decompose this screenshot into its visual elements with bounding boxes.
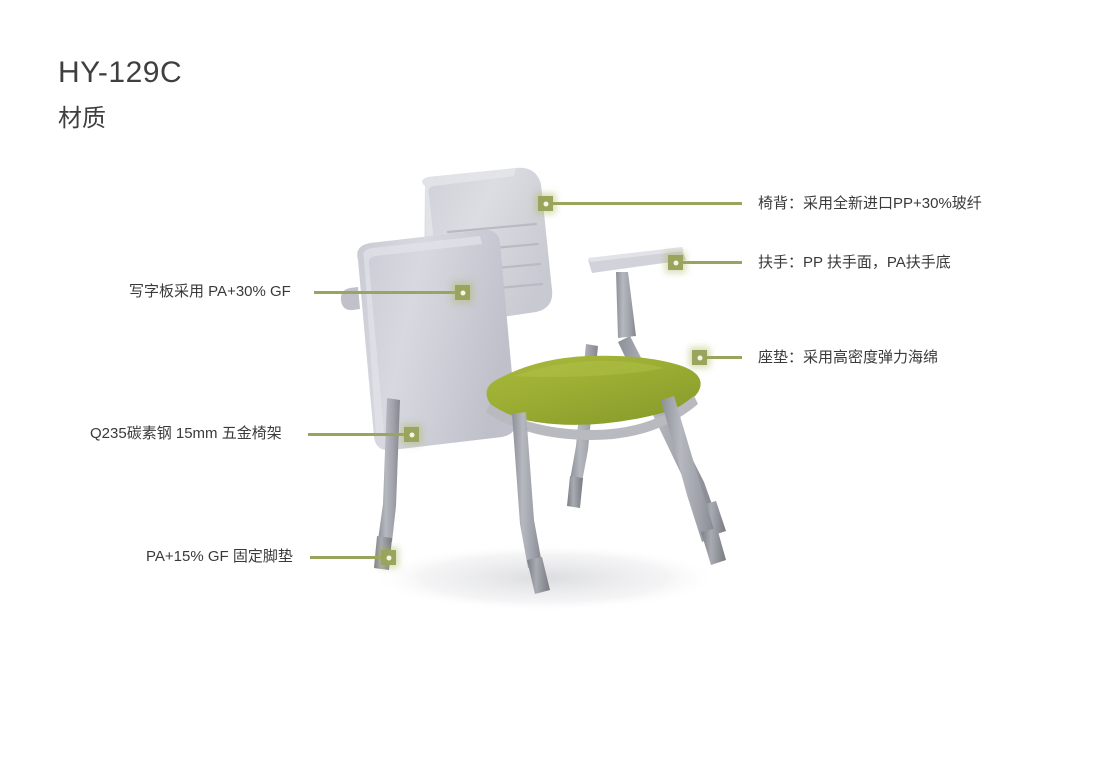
callout-leader-writing-tablet (314, 291, 462, 294)
callout-marker-backrest[interactable] (538, 196, 553, 211)
foot-cap-front-right (567, 476, 583, 508)
callout-label-foot-pad: PA+15% GF 固定脚垫 (146, 549, 293, 564)
callout-label-steel-frame: Q235碳素钢 15mm 五金椅架 (90, 426, 282, 441)
page-heading: HY-129C 材质 (58, 56, 182, 132)
callout-label-backrest: 椅背：采用全新进口PP+30%玻纤 (758, 196, 982, 211)
callout-label-seat-cushion: 座垫：采用高密度弹力海绵 (758, 350, 938, 365)
callout-marker-steel-frame[interactable] (404, 427, 419, 442)
callout-label-writing-tablet: 写字板采用 PA+30% GF (129, 284, 291, 299)
callout-leader-seat-cushion (706, 356, 742, 359)
armrest-support-post (616, 272, 636, 338)
callout-marker-seat-cushion[interactable] (692, 350, 707, 365)
callout-leader-foot-pad (310, 556, 388, 559)
callout-marker-armrest[interactable] (668, 255, 683, 270)
section-subtitle: 材质 (58, 105, 182, 133)
callout-leader-steel-frame (308, 433, 411, 436)
chair-leg-outer-right (661, 396, 716, 542)
callout-label-armrest: 扶手：PP 扶手面，PA扶手底 (758, 255, 951, 270)
callout-leader-armrest (682, 261, 742, 264)
callout-marker-writing-tablet[interactable] (455, 285, 470, 300)
page-title: HY-129C (58, 56, 182, 91)
callout-leader-backrest (552, 202, 742, 205)
product-material-diagram-page: HY-129C 材质 (0, 0, 1100, 777)
callout-marker-foot-pad[interactable] (381, 550, 396, 565)
foot-cap-outer-right (701, 528, 726, 565)
